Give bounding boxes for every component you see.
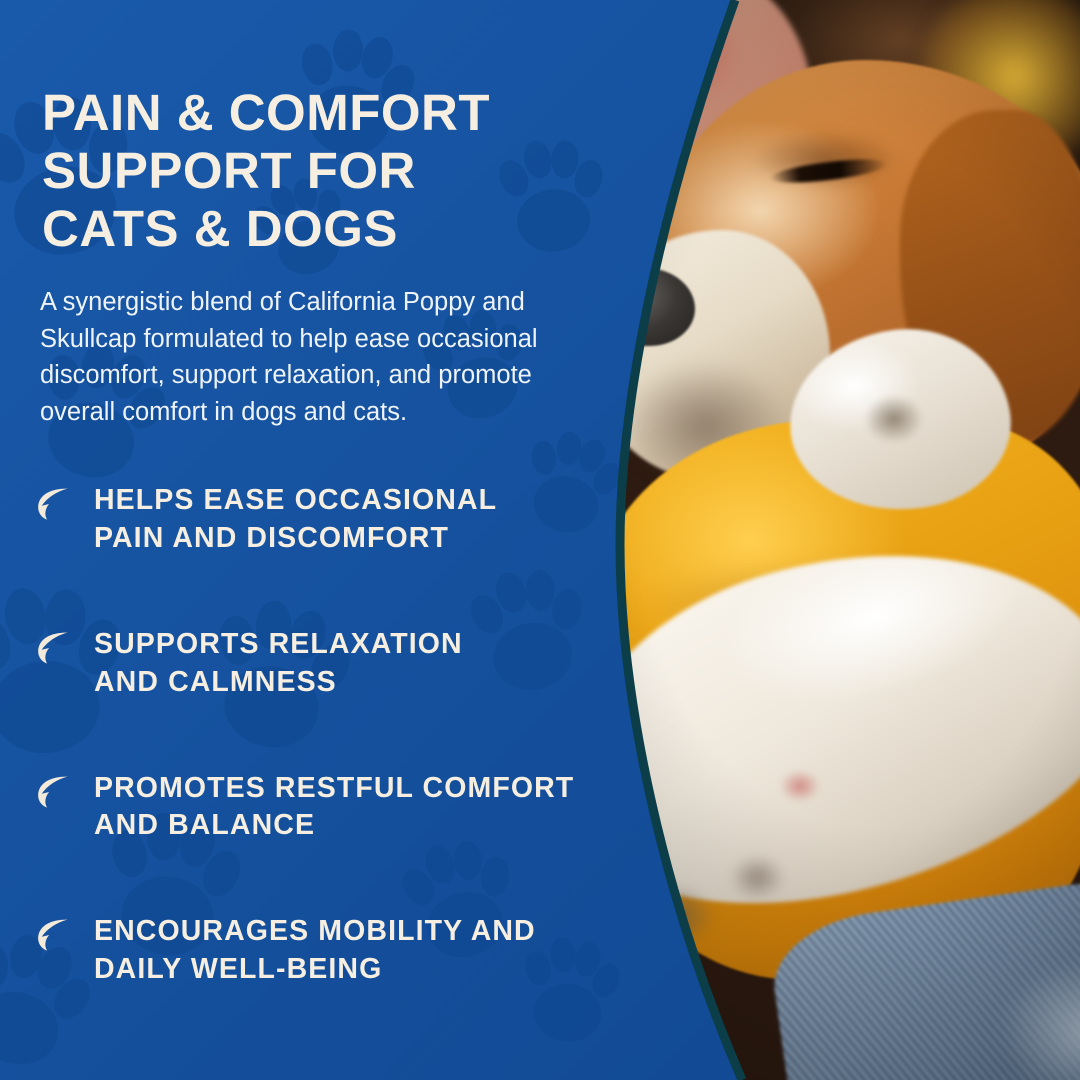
- leaf-icon: [36, 487, 70, 521]
- page-title: PAIN & COMFORT SUPPORT FOR CATS & DOGS: [42, 84, 582, 258]
- list-item: SUPPORTS RELAXATION AND CALMNESS: [36, 626, 636, 702]
- benefit-label: PROMOTES RESTFUL COMFORT AND BALANCE: [94, 770, 636, 846]
- list-item: HELPS EASE OCCASIONAL PAIN AND DISCOMFOR…: [36, 482, 636, 558]
- product-description: A synergistic blend of California Poppy …: [40, 284, 585, 431]
- list-item: PROMOTES RESTFUL COMFORT AND BALANCE: [36, 770, 636, 846]
- benefit-label: SUPPORTS RELAXATION AND CALMNESS: [94, 626, 636, 702]
- list-item: ENCOURAGES MOBILITY AND DAILY WELL-BEING: [36, 913, 636, 989]
- leaf-icon: [36, 631, 70, 665]
- leaf-icon: [36, 918, 70, 952]
- leaf-icon: [36, 775, 70, 809]
- benefit-label: HELPS EASE OCCASIONAL PAIN AND DISCOMFOR…: [94, 482, 636, 558]
- product-benefits-card: PAIN & COMFORT SUPPORT FOR CATS & DOGS A…: [0, 0, 1080, 1080]
- content-column: PAIN & COMFORT SUPPORT FOR CATS & DOGS A…: [0, 0, 1080, 1080]
- benefits-list: HELPS EASE OCCASIONAL PAIN AND DISCOMFOR…: [36, 482, 636, 989]
- benefit-label: ENCOURAGES MOBILITY AND DAILY WELL-BEING: [94, 913, 636, 989]
